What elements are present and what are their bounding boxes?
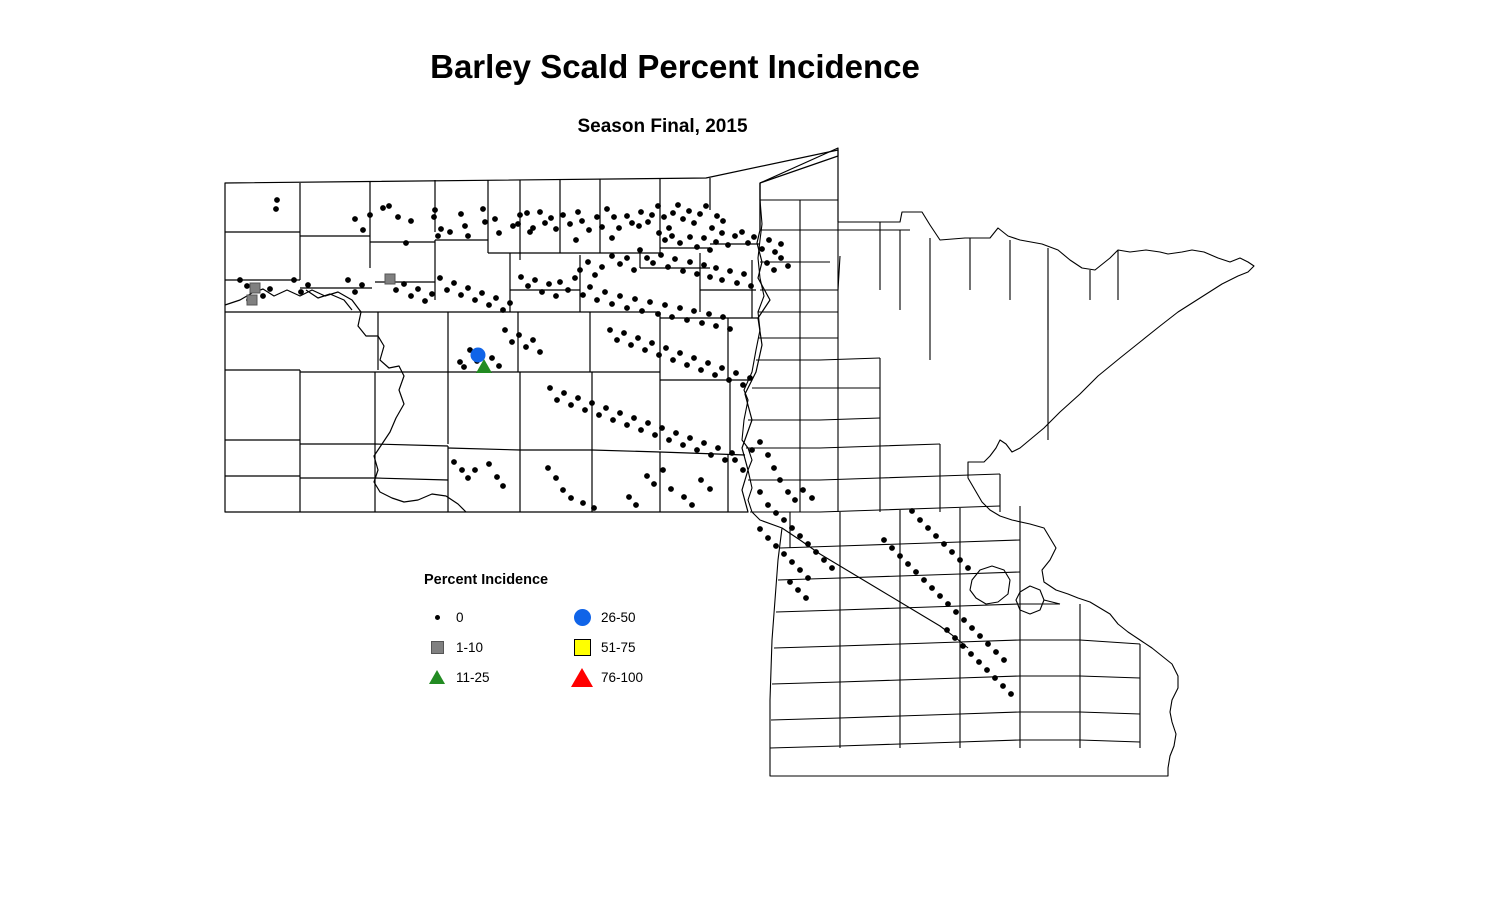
marker-zero [789, 559, 795, 565]
marker-zero [689, 502, 695, 508]
marker-zero [639, 308, 645, 314]
map-page: Barley Scald Percent Incidence Season Fi… [0, 0, 1503, 900]
marker-zero [624, 255, 630, 261]
marker-zero [489, 355, 495, 361]
marker-zero [500, 483, 506, 489]
marker-zero [603, 405, 609, 411]
marker-zero [596, 412, 602, 418]
marker-zero [457, 359, 463, 365]
marker-zero [244, 283, 250, 289]
marker-zero [809, 495, 815, 501]
marker-zero [616, 225, 622, 231]
marker-zero [727, 326, 733, 332]
marker-zero [479, 290, 485, 296]
legend-item-51-75: 51-75 [569, 632, 643, 662]
marker-zero [628, 342, 634, 348]
marker-zero [462, 223, 468, 229]
marker-zero [599, 264, 605, 270]
marker-zero [432, 207, 438, 213]
marker-zero [274, 197, 280, 203]
marker-zero [705, 360, 711, 366]
marker-zero [496, 230, 502, 236]
legend-column-left: 0 1-10 11-25 [424, 602, 569, 692]
marker-zero [459, 467, 465, 473]
marker-zero [565, 287, 571, 293]
marker-zero [687, 435, 693, 441]
marker-zero [698, 367, 704, 373]
marker-zero [492, 216, 498, 222]
marker-zero [594, 214, 600, 220]
marker-zero [694, 447, 700, 453]
marker-zero [663, 345, 669, 351]
marker-zero [553, 226, 559, 232]
marker-zero [662, 302, 668, 308]
marker-zero [797, 533, 803, 539]
marker-zero [748, 283, 754, 289]
legend-label-0: 0 [450, 610, 464, 625]
marker-zero [624, 422, 630, 428]
legend-label-51-75: 51-75 [595, 640, 636, 655]
marker-zero [438, 226, 444, 232]
marker-zero [480, 206, 486, 212]
marker-zero [532, 277, 538, 283]
marker-zero [727, 268, 733, 274]
marker-zero [345, 277, 351, 283]
marker-zero [631, 415, 637, 421]
marker-zero [422, 298, 428, 304]
marker-zero [537, 209, 543, 215]
marker-zero [792, 497, 798, 503]
marker-zero [461, 364, 467, 370]
marker-zero [684, 362, 690, 368]
marker-zero [573, 237, 579, 243]
marker-zero [680, 216, 686, 222]
legend-item-0: 0 [424, 602, 569, 632]
marker-zero [921, 577, 927, 583]
marker-zero [881, 537, 887, 543]
marker-zero [719, 277, 725, 283]
marker-zero [647, 299, 653, 305]
north-dakota-counties [225, 150, 838, 512]
marker-zero [977, 633, 983, 639]
marker-zero [684, 317, 690, 323]
marker-zero [694, 244, 700, 250]
marker-zero [609, 301, 615, 307]
marker-zero [961, 617, 967, 623]
marker-zero [1001, 657, 1007, 663]
marker-zero [557, 279, 563, 285]
marker-zero [537, 349, 543, 355]
marker-zero [530, 337, 536, 343]
marker-zero [624, 213, 630, 219]
blue-circle-icon [569, 609, 595, 626]
marker-zero [507, 300, 513, 306]
marker-zero [561, 390, 567, 396]
marker-zero [575, 395, 581, 401]
marker-zero [691, 355, 697, 361]
marker-zero [568, 495, 574, 501]
marker-zero [691, 220, 697, 226]
marker-zero [589, 400, 595, 406]
marker-zero [773, 510, 779, 516]
legend-label-1-10: 1-10 [450, 640, 483, 655]
marker-zero [917, 517, 923, 523]
marker-zero [267, 286, 273, 292]
marker-zero [472, 467, 478, 473]
marker-zero [952, 635, 958, 641]
marker-zero [298, 289, 304, 295]
marker-zero [651, 481, 657, 487]
marker-zero [706, 311, 712, 317]
marker-zero [617, 410, 623, 416]
marker-zero [609, 235, 615, 241]
marker-zero [352, 289, 358, 295]
marker-zero [778, 255, 784, 261]
marker-zero [631, 267, 637, 273]
marker-zero [415, 286, 421, 292]
marker-zero [486, 302, 492, 308]
marker-zero [757, 489, 763, 495]
marker-zero [897, 553, 903, 559]
marker-zero [548, 215, 554, 221]
marker-zero [496, 363, 502, 369]
marker-zero [587, 284, 593, 290]
marker-zero [785, 489, 791, 495]
marker-zero [778, 241, 784, 247]
marker-zero [444, 287, 450, 293]
marker-zero [889, 545, 895, 551]
marker-zero [472, 297, 478, 303]
marker-zero [617, 261, 623, 267]
marker-zero [757, 526, 763, 532]
marker-1-10 [385, 274, 395, 284]
marker-zero [656, 352, 662, 358]
marker-zero [451, 280, 457, 286]
marker-zero [677, 240, 683, 246]
marker-zero [941, 541, 947, 547]
marker-zero [575, 209, 581, 215]
marker-zero [1000, 683, 1006, 689]
marker-zero [502, 327, 508, 333]
marker-zero [968, 651, 974, 657]
marker-zero [539, 289, 545, 295]
marker-zero [665, 264, 671, 270]
marker-zero [984, 667, 990, 673]
marker-zero [741, 271, 747, 277]
marker-zero [708, 452, 714, 458]
marker-zero [638, 209, 644, 215]
marker-zero [698, 477, 704, 483]
marker-zero [797, 567, 803, 573]
marker-zero [669, 314, 675, 320]
marker-zero [969, 625, 975, 631]
marker-zero [395, 214, 401, 220]
marker-zero [655, 311, 661, 317]
legend-item-76-100: 76-100 [569, 662, 643, 692]
marker-zero [732, 233, 738, 239]
marker-zero [607, 327, 613, 333]
marker-zero [771, 267, 777, 273]
marker-zero [386, 203, 392, 209]
marker-zero [465, 233, 471, 239]
marker-zero [953, 609, 959, 615]
marker-zero [458, 211, 464, 217]
gray-square-icon [424, 641, 450, 654]
marker-zero [591, 505, 597, 511]
marker-zero [403, 240, 409, 246]
marker-zero [447, 229, 453, 235]
yellow-square-icon [569, 639, 595, 656]
marker-zero [945, 601, 951, 607]
marker-zero [675, 202, 681, 208]
marker-zero [517, 212, 523, 218]
marker-zero [614, 337, 620, 343]
marker-zero [949, 549, 955, 555]
marker-zero [524, 210, 530, 216]
legend-label-76-100: 76-100 [595, 670, 643, 685]
marker-zero [359, 282, 365, 288]
marker-zero [482, 219, 488, 225]
marker-zero [687, 259, 693, 265]
marker-zero [494, 474, 500, 480]
marker-zero [547, 385, 553, 391]
legend-item-11-25: 11-25 [424, 662, 569, 692]
legend-item-26-50: 26-50 [569, 602, 643, 632]
marker-zero [726, 377, 732, 383]
marker-zero [965, 565, 971, 571]
marker-zero [530, 225, 536, 231]
dot-icon [424, 615, 450, 620]
marker-zero [260, 293, 266, 299]
marker-zero [829, 565, 835, 571]
legend-label-26-50: 26-50 [595, 610, 636, 625]
marker-zero [680, 268, 686, 274]
marker-zero [656, 230, 662, 236]
marker-zero [500, 307, 506, 313]
marker-zero [681, 494, 687, 500]
marker-zero [629, 220, 635, 226]
marker-zero [677, 305, 683, 311]
marker-zero [560, 487, 566, 493]
marker-zero [509, 339, 515, 345]
marker-zero [599, 224, 605, 230]
marker-zero [976, 659, 982, 665]
marker-zero [933, 533, 939, 539]
marker-zero [713, 265, 719, 271]
marker-zero [747, 375, 753, 381]
marker-zero [733, 370, 739, 376]
marker-zero [670, 210, 676, 216]
marker-zero [662, 237, 668, 243]
marker-zero [960, 643, 966, 649]
marker-zero [577, 267, 583, 273]
marker-zero [367, 212, 373, 218]
marker-zero [713, 239, 719, 245]
marker-zero [745, 240, 751, 246]
marker-zero [649, 212, 655, 218]
marker-zero [580, 500, 586, 506]
marker-zero [929, 585, 935, 591]
marker-zero [465, 285, 471, 291]
marker-zero [638, 427, 644, 433]
marker-zero [992, 675, 998, 681]
marker-zero [757, 439, 763, 445]
marker-zero [609, 253, 615, 259]
marker-zero [734, 280, 740, 286]
marker-zero [237, 277, 243, 283]
marker-zero [739, 229, 745, 235]
marker-zero [661, 214, 667, 220]
marker-zero [604, 206, 610, 212]
marker-zero [913, 569, 919, 575]
marker-zero [360, 227, 366, 233]
marker-zero [732, 457, 738, 463]
marker-zero [789, 525, 795, 531]
green-triangle-icon [424, 670, 450, 684]
marker-zero [699, 320, 705, 326]
marker-zero [805, 541, 811, 547]
marker-zero [813, 549, 819, 555]
marker-zero [645, 219, 651, 225]
marker-zero [719, 365, 725, 371]
marker-zero [546, 281, 552, 287]
marker-zero [725, 242, 731, 248]
marker-zero [659, 425, 665, 431]
marker-zero [644, 473, 650, 479]
marker-zero [766, 237, 772, 243]
marker-zero [670, 357, 676, 363]
marker-zero [352, 216, 358, 222]
marker-zero [658, 252, 664, 258]
marker-zero [655, 203, 661, 209]
marker-zero [580, 292, 586, 298]
marker-zero [771, 465, 777, 471]
marker-zero [554, 397, 560, 403]
legend-label-11-25: 11-25 [450, 670, 490, 685]
marker-zero [621, 330, 627, 336]
marker-zero [781, 551, 787, 557]
marker-26-50 [471, 348, 486, 363]
marker-zero [993, 649, 999, 655]
marker-zero [759, 246, 765, 252]
marker-zero [610, 417, 616, 423]
marker-zero [795, 587, 801, 593]
marker-zero [516, 332, 522, 338]
marker-zero [673, 430, 679, 436]
marker-zero [777, 477, 783, 483]
marker-zero [458, 292, 464, 298]
marker-zero [486, 461, 492, 467]
marker-zero [713, 323, 719, 329]
marker-zero [707, 274, 713, 280]
marker-zero [707, 247, 713, 253]
marker-zero [985, 641, 991, 647]
marker-zero [431, 214, 437, 220]
marker-zero [660, 467, 666, 473]
marker-zero [624, 305, 630, 311]
marker-zero [451, 459, 457, 465]
marker-zero [626, 494, 632, 500]
marker-zero [602, 289, 608, 295]
marker-zero [740, 382, 746, 388]
marker-zero [649, 340, 655, 346]
marker-zero [611, 214, 617, 220]
marker-zero [905, 561, 911, 567]
marker-zero [701, 235, 707, 241]
marker-zero [703, 203, 709, 209]
marker-zero [714, 213, 720, 219]
marker-zero [305, 282, 311, 288]
marker-zero [729, 450, 735, 456]
marker-zero [579, 218, 585, 224]
marker-zero [525, 283, 531, 289]
marker-zero [707, 486, 713, 492]
marker-zero [751, 234, 757, 240]
marker-zero [435, 233, 441, 239]
marker-zero [633, 502, 639, 508]
marker-zero [709, 225, 715, 231]
marker-zero [408, 293, 414, 299]
marker-zero [701, 440, 707, 446]
marker-zero [652, 432, 658, 438]
marker-1-10 [247, 295, 257, 305]
marker-zero [715, 445, 721, 451]
marker-zero [720, 314, 726, 320]
marker-zero [560, 212, 566, 218]
marker-zero [957, 557, 963, 563]
marker-zero [644, 255, 650, 261]
marker-zero [273, 206, 279, 212]
marker-zero [772, 249, 778, 255]
red-triangle-icon [569, 668, 595, 687]
marker-zero [821, 557, 827, 563]
marker-zero [720, 218, 726, 224]
marker-zero [719, 230, 725, 236]
legend-title: Percent Incidence [424, 572, 684, 588]
marker-1-10 [250, 283, 260, 293]
marker-zero [567, 221, 573, 227]
marker-zero [944, 627, 950, 633]
marker-zero [749, 447, 755, 453]
marker-zero [393, 287, 399, 293]
marker-zero [582, 407, 588, 413]
marker-zero [401, 281, 407, 287]
marker-zero [645, 420, 651, 426]
marker-zero [291, 277, 297, 283]
marker-zero [937, 593, 943, 599]
marker-zero [803, 595, 809, 601]
marker-zero [650, 260, 656, 266]
marker-zero [787, 579, 793, 585]
marker-zero [635, 335, 641, 341]
marker-zero [553, 293, 559, 299]
marker-zero [800, 487, 806, 493]
marker-zero [668, 486, 674, 492]
marker-zero [542, 220, 548, 226]
marker-zero [1008, 691, 1014, 697]
marker-zero [925, 525, 931, 531]
marker-zero [765, 535, 771, 541]
marker-zero [722, 457, 728, 463]
marker-zero [408, 218, 414, 224]
marker-zero [380, 205, 386, 211]
marker-zero [592, 272, 598, 278]
marker-zero [666, 437, 672, 443]
marker-zero [697, 211, 703, 217]
marker-zero [687, 234, 693, 240]
marker-zero [773, 543, 779, 549]
marker-zero [691, 308, 697, 314]
